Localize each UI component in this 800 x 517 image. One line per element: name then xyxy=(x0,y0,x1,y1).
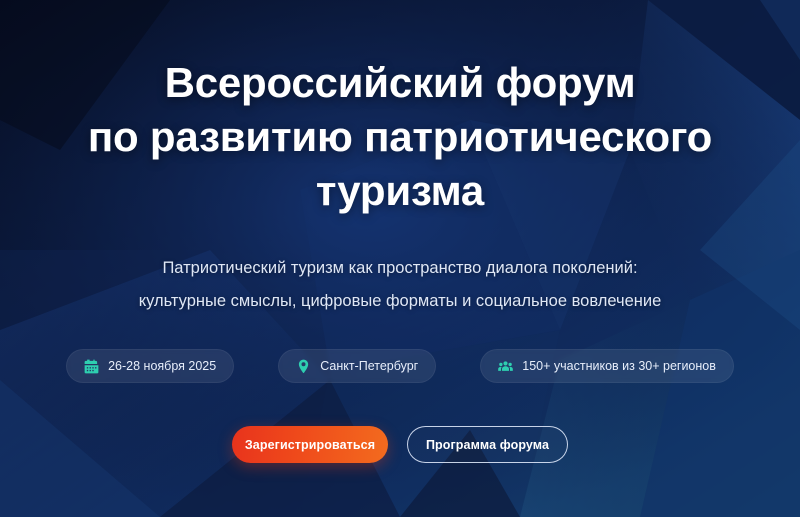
subtitle-line-2: культурные смыслы, цифровые форматы и со… xyxy=(50,285,750,318)
info-badges: 26-28 ноября 2025 Санкт-Петербург xyxy=(66,349,734,383)
badge-date: 26-28 ноября 2025 xyxy=(66,349,234,383)
subtitle-line-1: Патриотический туризм как пространство д… xyxy=(50,252,750,285)
register-button[interactable]: Зарегистрироваться xyxy=(232,426,388,463)
people-icon xyxy=(498,359,513,374)
title-line-1: Всероссийский форум xyxy=(30,56,770,110)
hero-actions: Зарегистрироваться Программа форума xyxy=(232,426,568,463)
badge-location: Санкт-Петербург xyxy=(278,349,436,383)
calendar-icon xyxy=(84,359,99,374)
hero-content: Всероссийский форум по развитию патриоти… xyxy=(0,0,800,517)
map-pin-icon xyxy=(296,359,311,374)
badge-participants: 150+ участников из 30+ регионов xyxy=(480,349,734,383)
badge-location-label: Санкт-Петербург xyxy=(320,360,418,373)
page-subtitle: Патриотический туризм как пространство д… xyxy=(50,252,750,318)
badge-participants-label: 150+ участников из 30+ регионов xyxy=(522,360,716,373)
title-line-2: по развитию патриотического xyxy=(30,110,770,164)
program-button[interactable]: Программа форума xyxy=(407,426,568,463)
badge-date-label: 26-28 ноября 2025 xyxy=(108,360,216,373)
hero-banner: Всероссийский форум по развитию патриоти… xyxy=(0,0,800,517)
title-line-3: туризма xyxy=(30,164,770,218)
page-title: Всероссийский форум по развитию патриоти… xyxy=(30,56,770,218)
